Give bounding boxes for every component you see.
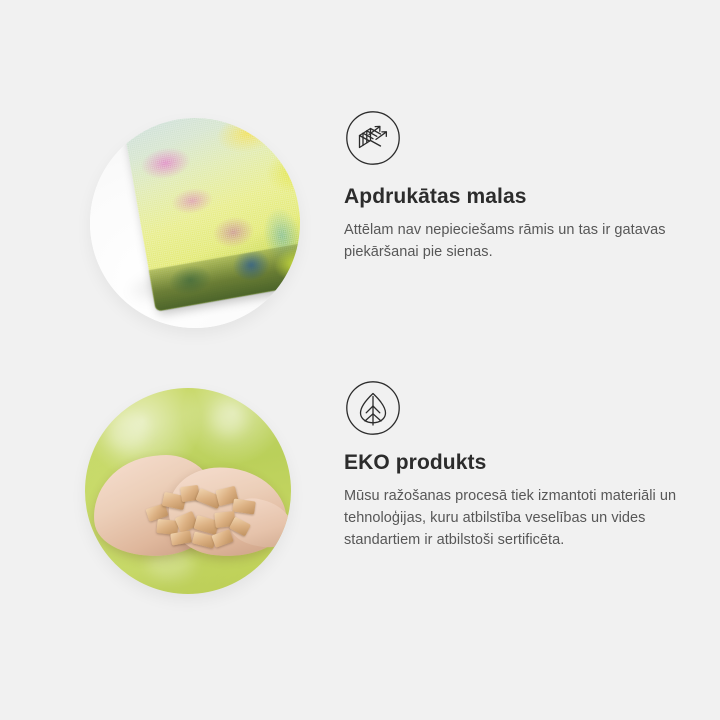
wood-chip	[229, 517, 251, 537]
feature-title-eco-product: EKO produkts	[344, 450, 692, 476]
wood-chips-heap	[143, 484, 257, 548]
canvas-corner-photo	[90, 118, 300, 328]
feature-eco-product: EKO produkts Mūsu ražošanas procesā tiek…	[0, 380, 720, 610]
cupped-hands	[91, 446, 287, 566]
wood-chips-hands-photo	[85, 388, 291, 594]
eco-product-text-block: EKO produkts Mūsu ražošanas procesā tiek…	[344, 450, 692, 551]
product-feature-panel: Apdrukātas malas Attēlam nav nepieciešam…	[0, 0, 720, 720]
feature-description-eco-product: Mūsu ražošanas procesā tiek izmantoti ma…	[344, 485, 692, 551]
feature-printed-edges: Apdrukātas malas Attēlam nav nepieciešam…	[0, 110, 720, 340]
feature-description-printed-edges: Attēlam nav nepieciešams rāmis un tas ir…	[344, 219, 692, 263]
feature-title-printed-edges: Apdrukātas malas	[344, 184, 692, 210]
bokeh-highlight	[211, 402, 245, 436]
leaf-icon	[345, 380, 401, 436]
wood-chip	[232, 499, 256, 515]
wood-chip	[170, 530, 192, 545]
canvas-wrapped-edge-icon	[345, 110, 401, 166]
printed-edges-text-block: Apdrukātas malas Attēlam nav nepieciešam…	[344, 184, 692, 263]
